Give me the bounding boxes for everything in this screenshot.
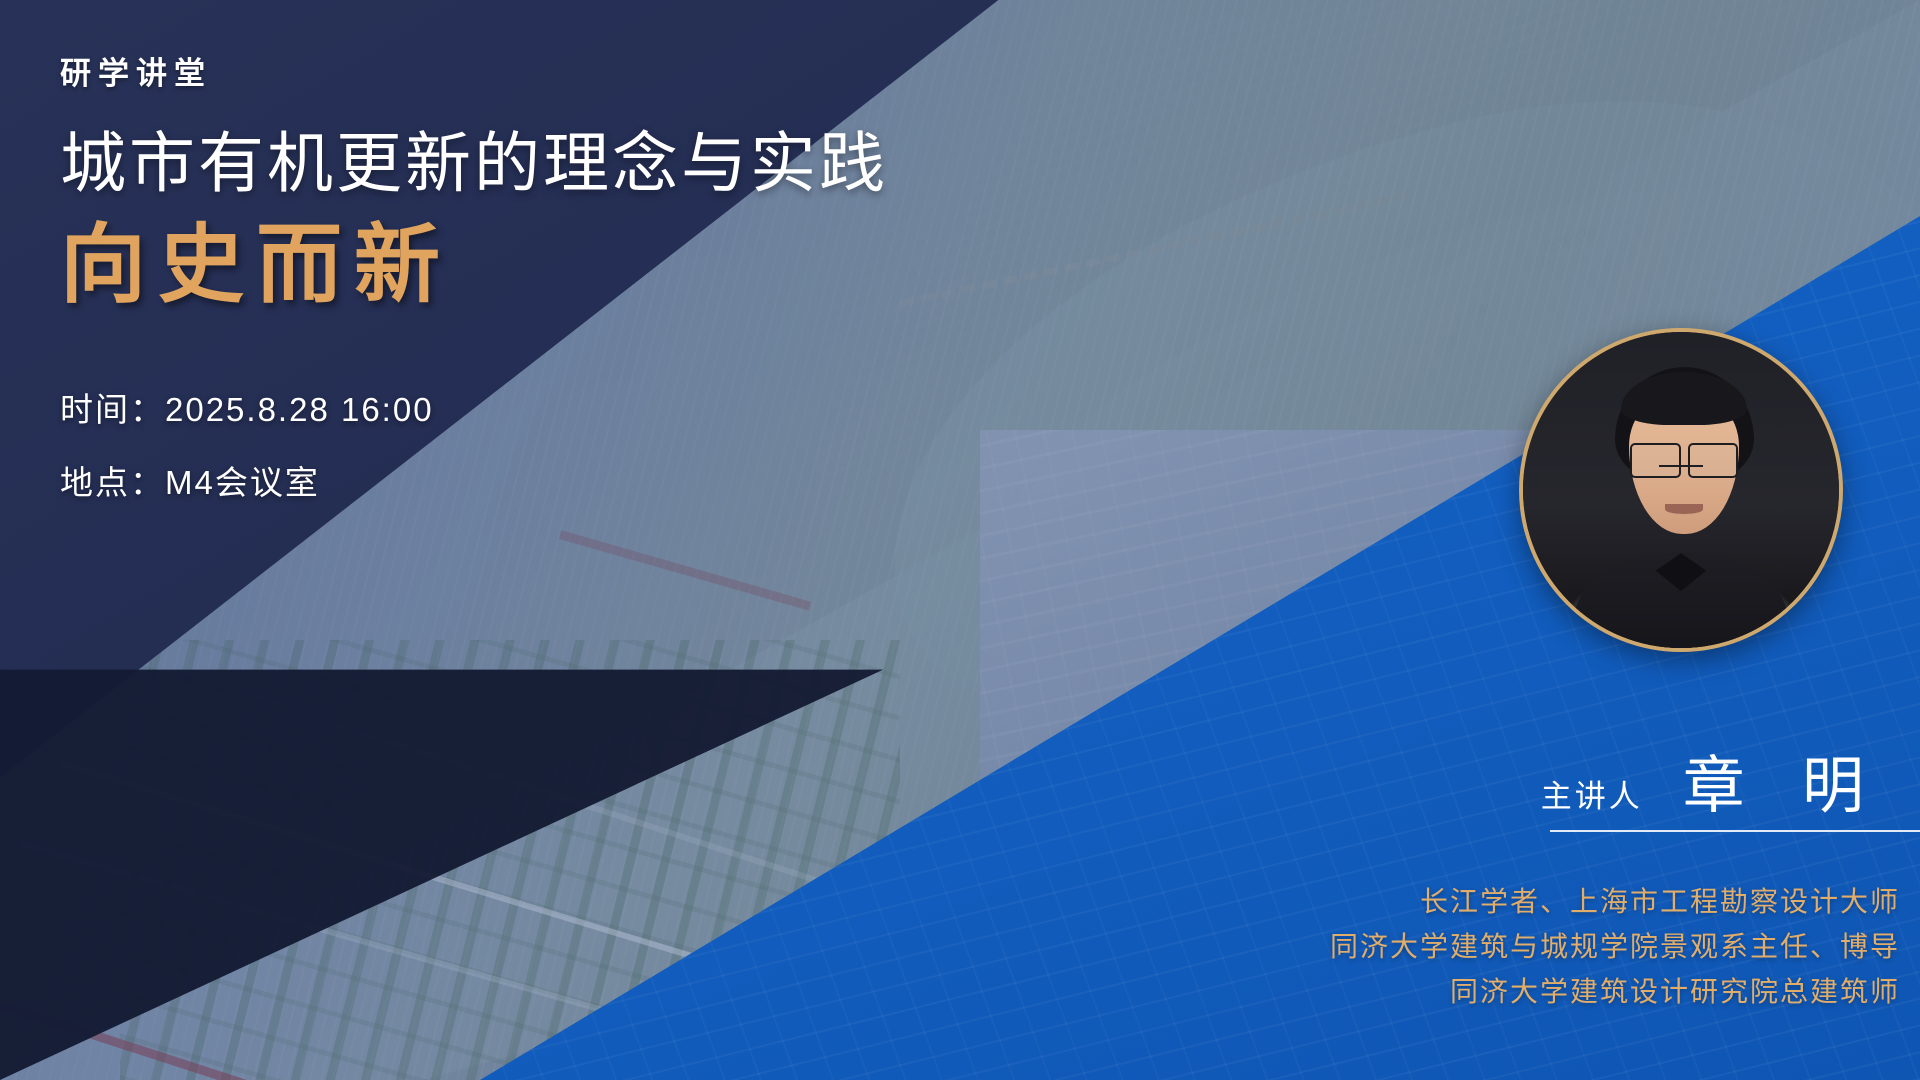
event-time: 时间：2025.8.28 16:00 (60, 393, 940, 426)
glasses-icon (1630, 443, 1737, 475)
page-title: 城市有机更新的理念与实践 (60, 129, 940, 198)
speaker-row: 主讲人 章 明 (1330, 735, 1890, 825)
portrait-fringe (1621, 372, 1747, 426)
series-kicker: 研学讲堂 (60, 48, 940, 93)
glasses-lens-right (1688, 443, 1738, 479)
poster-canvas: 的外滩沙 早的自来水厂 早的自来水厂 加工厂 杨浦滨江工业 杨浦大桥 黄 浦 江… (0, 0, 1920, 1080)
credential-line-3: 同济大学建筑设计研究院总建筑师 (1060, 970, 1900, 1015)
speaker-avatar (1519, 328, 1843, 652)
event-meta: 时间：2025.8.28 16:00 地点：M4会议室 (60, 393, 940, 499)
glasses-bridge (1659, 465, 1703, 467)
credential-line-2: 同济大学建筑与城规学院景观系主任、博导 (1060, 925, 1900, 970)
headline-block: 研学讲堂 城市有机更新的理念与实践 向史而新 时间：2025.8.28 16:0… (60, 30, 940, 539)
event-location: 地点：M4会议室 (60, 466, 940, 499)
page-subtitle: 向史而新 (60, 220, 940, 310)
portrait-mouth (1665, 504, 1703, 513)
speaker-name: 章 明 (1683, 735, 1890, 825)
speaker-photo (1523, 332, 1839, 648)
speaker-label: 主讲人 (1541, 771, 1643, 816)
credential-line-1: 长江学者、上海市工程勘察设计大师 (1060, 880, 1900, 925)
speaker-name-divider (1550, 830, 1920, 832)
speaker-credentials: 长江学者、上海市工程勘察设计大师 同济大学建筑与城规学院景观系主任、博导 同济大… (1060, 880, 1900, 1014)
glasses-lens-left (1630, 443, 1680, 479)
